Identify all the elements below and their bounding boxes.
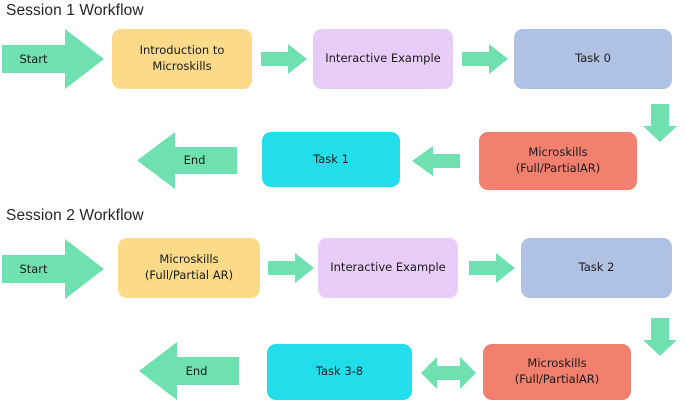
node-microskills-session-2-top-line1: Microskills [145,252,233,268]
arrow-down-session-2 [643,318,677,356]
node-introduction-to-microskills: Introduction to Microskills [112,29,252,89]
arrow-end-session-1-label: End [152,153,237,167]
arrow-end-session-2-label: End [154,364,239,378]
node-microskills-session-2-top: Microskills (Full/Partial AR) [118,238,260,298]
node-microskills-session-1: Microskills (Full/PartialAR) [479,132,637,190]
session-1-title: Session 1 Workflow [6,2,144,20]
node-task-2-line1: Task 2 [579,260,615,276]
node-microskills-session-2-bottom: Microskills (Full/PartialAR) [483,344,631,400]
arrow-microskills-to-task1 [412,146,460,176]
node-interactive-example-session-1-line1: Interactive Example [325,51,441,67]
node-task-0: Task 0 [514,29,672,89]
node-microskills-session-1-line2: (Full/PartialAR) [516,161,601,177]
node-microskills-session-1-line1: Microskills [516,145,601,161]
node-introduction-to-microskills-line1: Introduction to [140,43,225,59]
node-microskills-session-2-bottom-line1: Microskills [515,356,600,372]
session-2-title: Session 2 Workflow [6,207,144,225]
node-task-2: Task 2 [521,238,672,298]
arrow-intro-to-interactive-session-1 [261,44,307,74]
node-task-1-line1: Task 1 [313,152,349,168]
node-microskills-session-2-bottom-line2: (Full/PartialAR) [515,372,600,388]
workflow-diagram: Session 1 Workflow Start Introduction to… [0,0,685,409]
arrow-interactive-to-task0 [462,44,508,74]
node-interactive-example-session-2-line1: Interactive Example [330,260,446,276]
node-task-0-line1: Task 0 [575,51,611,67]
node-microskills-session-2-top-line2: (Full/Partial AR) [145,268,233,284]
node-interactive-example-session-1: Interactive Example [313,29,453,89]
node-task-3-8: Task 3-8 [267,344,412,400]
arrow-down-session-1 [643,104,677,142]
arrow-interactive-to-task2 [469,253,515,283]
node-task-1: Task 1 [262,132,400,187]
arrow-start-session-1-label: Start [2,52,65,66]
arrow-bidirectional-task38-microskills [421,354,476,392]
node-interactive-example-session-2: Interactive Example [318,238,458,298]
arrow-microskills-to-interactive-session-2 [268,253,314,283]
node-introduction-to-microskills-line2: Microskills [140,59,225,75]
node-task-3-8-line1: Task 3-8 [316,364,363,380]
arrow-start-session-2-label: Start [2,262,65,276]
